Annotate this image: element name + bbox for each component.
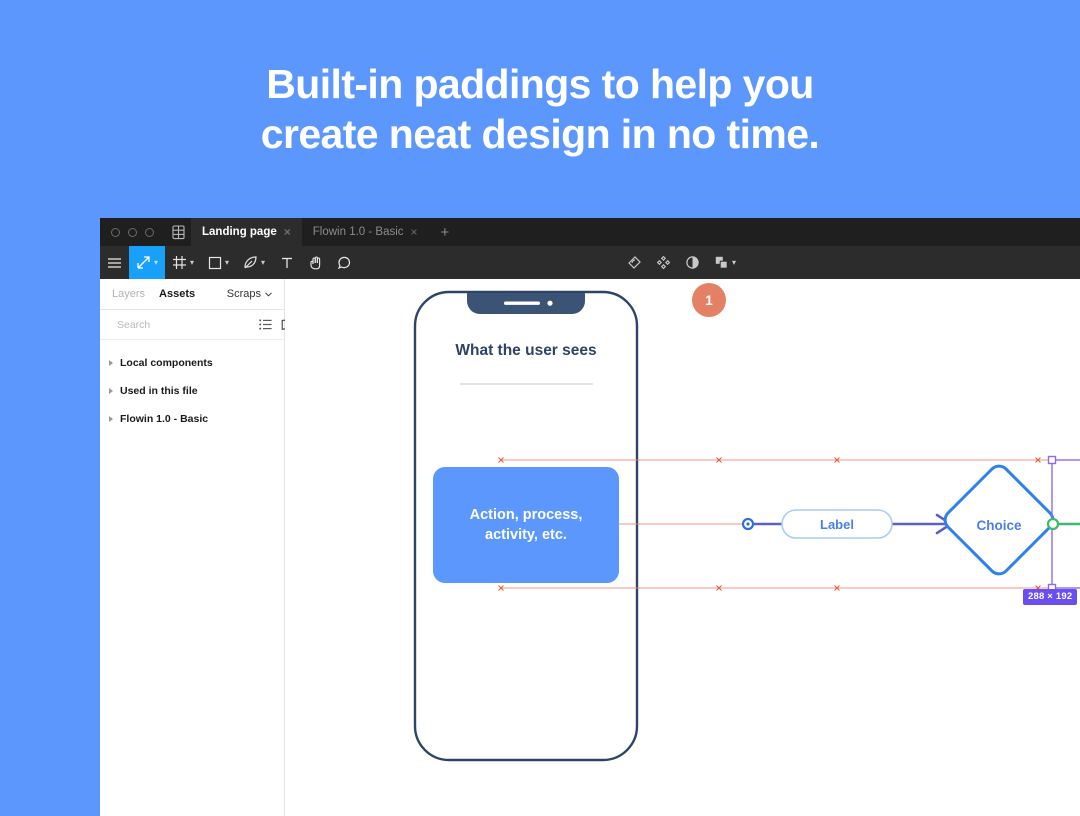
decision-text: Choice <box>976 518 1022 533</box>
maximize-icon[interactable] <box>145 228 154 237</box>
list-view-icon[interactable] <box>259 319 272 330</box>
panel-tab-layers[interactable]: Layers <box>112 288 145 300</box>
scraps-dropdown[interactable]: Scraps <box>227 288 272 300</box>
app-window: Landing page × Flowin 1.0 - Basic × + ▾ <box>100 218 1080 816</box>
tree-item-label: Used in this file <box>120 385 198 397</box>
flow-decision-diamond: Choice <box>945 466 1053 574</box>
tab-landing-page[interactable]: Landing page × <box>191 218 302 246</box>
hand-tool-icon[interactable] <box>301 246 330 279</box>
minimize-icon[interactable] <box>128 228 137 237</box>
chevron-down-icon <box>265 292 272 297</box>
tree-item-used-in-this-file[interactable]: Used in this file <box>100 377 284 405</box>
phone-screen-title: What the user sees <box>455 342 596 359</box>
label-pill-text: Label <box>820 517 854 532</box>
chevron-right-icon[interactable] <box>109 388 113 394</box>
tree-item-label: Flowin 1.0 - Basic <box>120 413 208 425</box>
figma-logo-icon[interactable] <box>166 218 191 246</box>
toolbar-right-group: ▾ <box>620 246 743 279</box>
boolean-icon[interactable]: ▾ <box>707 246 743 279</box>
tab-close-icon[interactable]: × <box>411 226 418 238</box>
panel-tab-bar: Layers Assets Scraps <box>100 279 284 310</box>
tree-item-label: Local components <box>120 357 213 369</box>
search-row <box>100 310 284 340</box>
hero-banner: Built-in paddings to help you create nea… <box>0 0 1080 218</box>
chevron-down-icon[interactable]: ▾ <box>154 259 158 267</box>
add-tab-button[interactable]: + <box>429 218 462 246</box>
shape-tool-icon[interactable]: ▾ <box>201 246 236 279</box>
annotation-badge-1[interactable]: 1 <box>692 283 726 317</box>
tab-label: Flowin 1.0 - Basic <box>313 226 404 238</box>
chevron-down-icon[interactable]: ▾ <box>261 259 265 267</box>
panel-tab-assets[interactable]: Assets <box>159 288 195 300</box>
menu-icon[interactable] <box>100 246 129 279</box>
search-input[interactable] <box>117 319 252 331</box>
notch-speaker-icon <box>504 302 540 305</box>
titlebar: Landing page × Flowin 1.0 - Basic × + <box>100 218 1080 246</box>
chevron-down-icon[interactable]: ▾ <box>190 259 194 267</box>
selection-size-badge: 288 × 192 <box>1023 589 1077 605</box>
notch-camera-icon <box>547 301 552 306</box>
move-tool-icon[interactable]: ▾ <box>129 246 165 279</box>
close-icon[interactable] <box>111 228 120 237</box>
design-canvas[interactable]: What the user sees <box>285 279 1080 816</box>
annotation-badge-number: 1 <box>705 293 713 308</box>
chevron-right-icon[interactable] <box>109 416 113 422</box>
components-icon[interactable] <box>649 246 678 279</box>
assets-tree: Local components Used in this file Flowi… <box>100 340 284 433</box>
scraps-label: Scraps <box>227 288 261 300</box>
tree-item-flowin-basic[interactable]: Flowin 1.0 - Basic <box>100 405 284 433</box>
toolbar: ▾ ▾ ▾ ▾ <box>100 246 1080 279</box>
tree-item-local-components[interactable]: Local components <box>100 349 284 377</box>
chevron-right-icon[interactable] <box>109 360 113 366</box>
tab-close-icon[interactable]: × <box>284 226 291 238</box>
action-box-line2: activity, etc. <box>485 527 567 543</box>
contrast-icon[interactable] <box>678 246 707 279</box>
pen-tool-icon[interactable]: ▾ <box>236 246 272 279</box>
text-tool-icon[interactable] <box>272 246 301 279</box>
tab-flowin-basic[interactable]: Flowin 1.0 - Basic × <box>302 218 429 246</box>
app-body: Layers Assets Scraps <box>100 279 1080 816</box>
action-box-line1: Action, process, <box>470 507 583 523</box>
chevron-down-icon[interactable]: ▾ <box>225 259 229 267</box>
assets-sidebar: Layers Assets Scraps <box>100 279 285 816</box>
chevron-down-icon[interactable]: ▾ <box>732 259 736 267</box>
comment-tool-icon[interactable] <box>330 246 359 279</box>
tab-label: Landing page <box>202 226 277 238</box>
page-title: Built-in paddings to help you create nea… <box>261 59 819 159</box>
mask-icon[interactable] <box>620 246 649 279</box>
frame-tool-icon[interactable]: ▾ <box>165 246 201 279</box>
window-controls[interactable] <box>100 218 164 246</box>
tab-bar: Landing page × Flowin 1.0 - Basic × + <box>191 218 461 246</box>
connector-handle <box>1048 519 1058 529</box>
flow-action-box: Action, process, activity, etc. <box>433 467 619 583</box>
flow-label-pill: Label <box>782 510 892 538</box>
